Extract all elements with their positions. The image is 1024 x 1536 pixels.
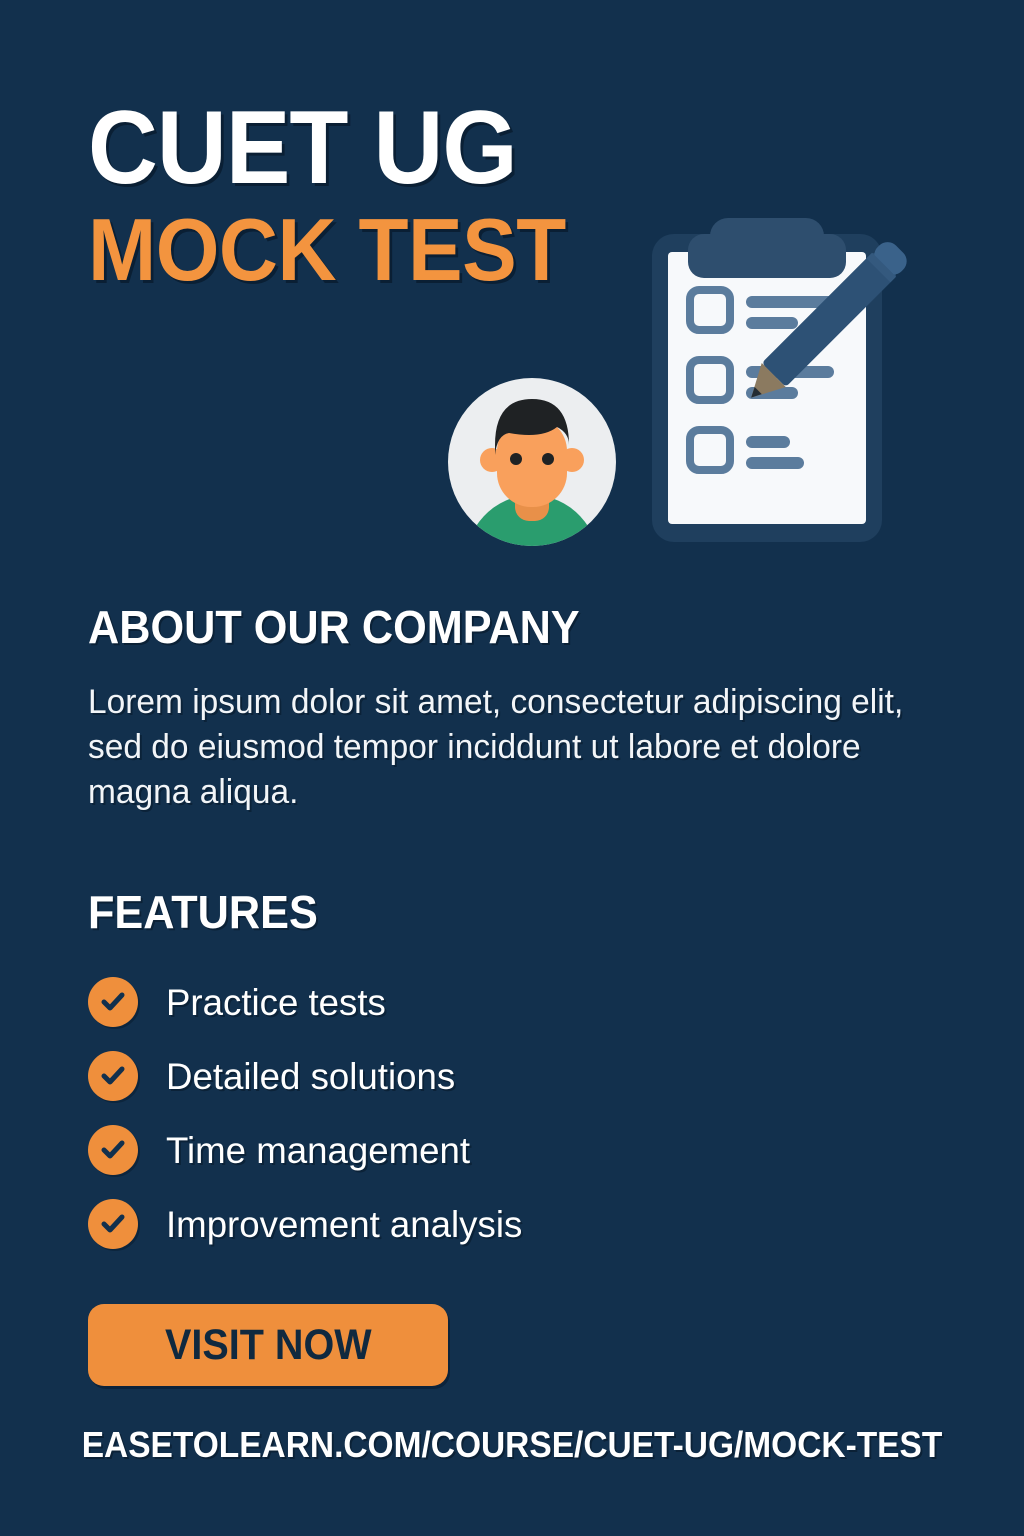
feature-label: Time management: [166, 1132, 470, 1169]
feature-label: Practice tests: [166, 984, 386, 1021]
feature-label: Detailed solutions: [166, 1058, 455, 1095]
check-circle-icon: [88, 1051, 138, 1101]
list-item: Detailed solutions: [88, 1039, 968, 1113]
about-body-text: Lorem ipsum dolor sit amet, consectetur …: [88, 680, 955, 816]
about-heading: ABOUT OUR COMPANY: [88, 600, 915, 654]
about-section: ABOUT OUR COMPANY Lorem ipsum dolor sit …: [88, 600, 968, 816]
footer-url[interactable]: EASETOLEARN.COM/COURSE/CUET-UG/MOCK-TEST: [36, 1424, 988, 1466]
features-list: Practice tests Detailed solutions Time m…: [88, 965, 968, 1261]
features-heading: FEATURES: [88, 885, 915, 939]
check-circle-icon: [88, 1199, 138, 1249]
check-circle-icon: [88, 977, 138, 1027]
check-circle-icon: [88, 1125, 138, 1175]
visit-now-button-label: VISIT NOW: [165, 1321, 372, 1370]
clipboard-checklist-icon: [648, 212, 898, 552]
poster-canvas: CUET UG MOCK TEST: [0, 0, 1024, 1536]
list-item: Time management: [88, 1113, 968, 1187]
student-avatar-icon: [447, 377, 617, 547]
feature-label: Improvement analysis: [166, 1206, 522, 1243]
page-title-primary: CUET UG: [88, 98, 646, 199]
list-item: Practice tests: [88, 965, 968, 1039]
headline-block: CUET UG MOCK TEST: [88, 98, 688, 293]
page-title-secondary: MOCK TEST: [88, 207, 646, 293]
visit-now-button[interactable]: VISIT NOW: [88, 1304, 448, 1386]
list-item: Improvement analysis: [88, 1187, 968, 1261]
features-section: FEATURES Practice tests Detailed solutio…: [88, 885, 968, 1261]
